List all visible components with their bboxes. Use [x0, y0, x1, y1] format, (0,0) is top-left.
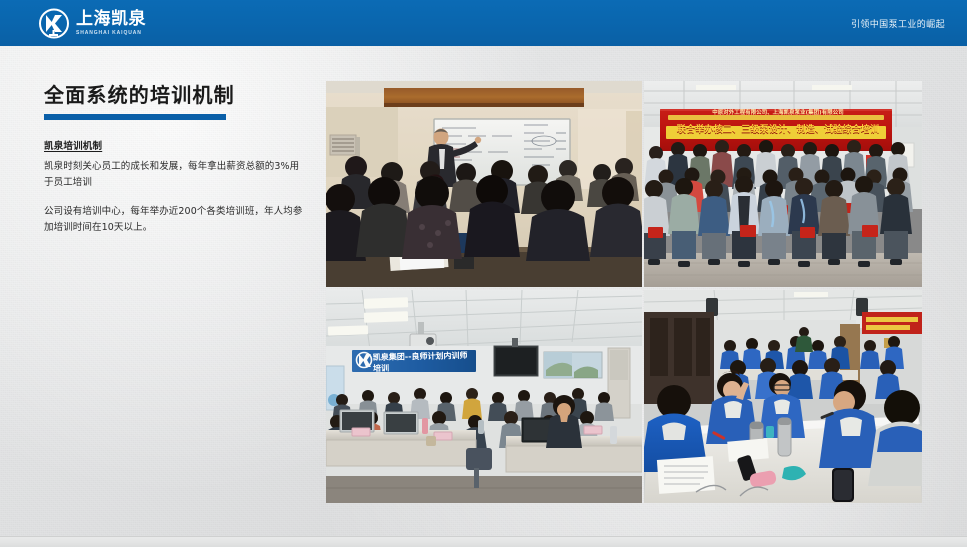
header-tagline: 引领中国泵工业的崛起 [851, 0, 945, 46]
slide-canvas: 上海凯泉 SHANGHAI KAIQUAN 引领中国泵工业的崛起 全面系统的培训… [0, 0, 967, 536]
logo-english-name: SHANGHAI KAIQUAN [76, 31, 146, 36]
photo-computer-classroom[interactable]: 凯泉集团--良师计划内训师培训 [326, 290, 642, 503]
kaiquan-logo-mark-icon [38, 8, 70, 39]
logo-text: 上海凯泉 SHANGHAI KAIQUAN [76, 11, 146, 36]
page-title: 全面系统的培训机制 [44, 84, 306, 107]
sub-heading: 凯泉培训机制 [44, 138, 306, 152]
company-logo[interactable]: 上海凯泉 SHANGHAI KAIQUAN [38, 7, 146, 39]
logo-chinese-name: 上海凯泉 [76, 11, 146, 28]
photo-grid: 中原对外工程有限公司、上海凯泉泵业(集团)有限公司 联合举办核二、三级泵设计、制… [326, 81, 922, 503]
photo-workshop-discussion[interactable] [644, 290, 922, 503]
slide-edge-strip [0, 536, 967, 547]
title-underline-rule [44, 114, 226, 120]
body-paragraph-1: 凯泉时刻关心员工的成长和发展，每年拿出薪资总额的3%用于员工培训 [44, 159, 306, 192]
photo-group-certificate[interactable]: 中原对外工程有限公司、上海凯泉泵业(集团)有限公司 联合举办核二、三级泵设计、制… [644, 81, 922, 287]
text-column: 全面系统的培训机制 凯泉培训机制 凯泉时刻关心员工的成长和发展，每年拿出薪资总额… [44, 84, 306, 236]
header-bar: 上海凯泉 SHANGHAI KAIQUAN 引领中国泵工业的崛起 [0, 0, 967, 46]
photo-lecture-whiteboard[interactable] [326, 81, 642, 287]
body-paragraph-2: 公司设有培训中心，每年举办近200个各类培训班，年人均参加培训时间在10天以上。 [44, 204, 306, 237]
